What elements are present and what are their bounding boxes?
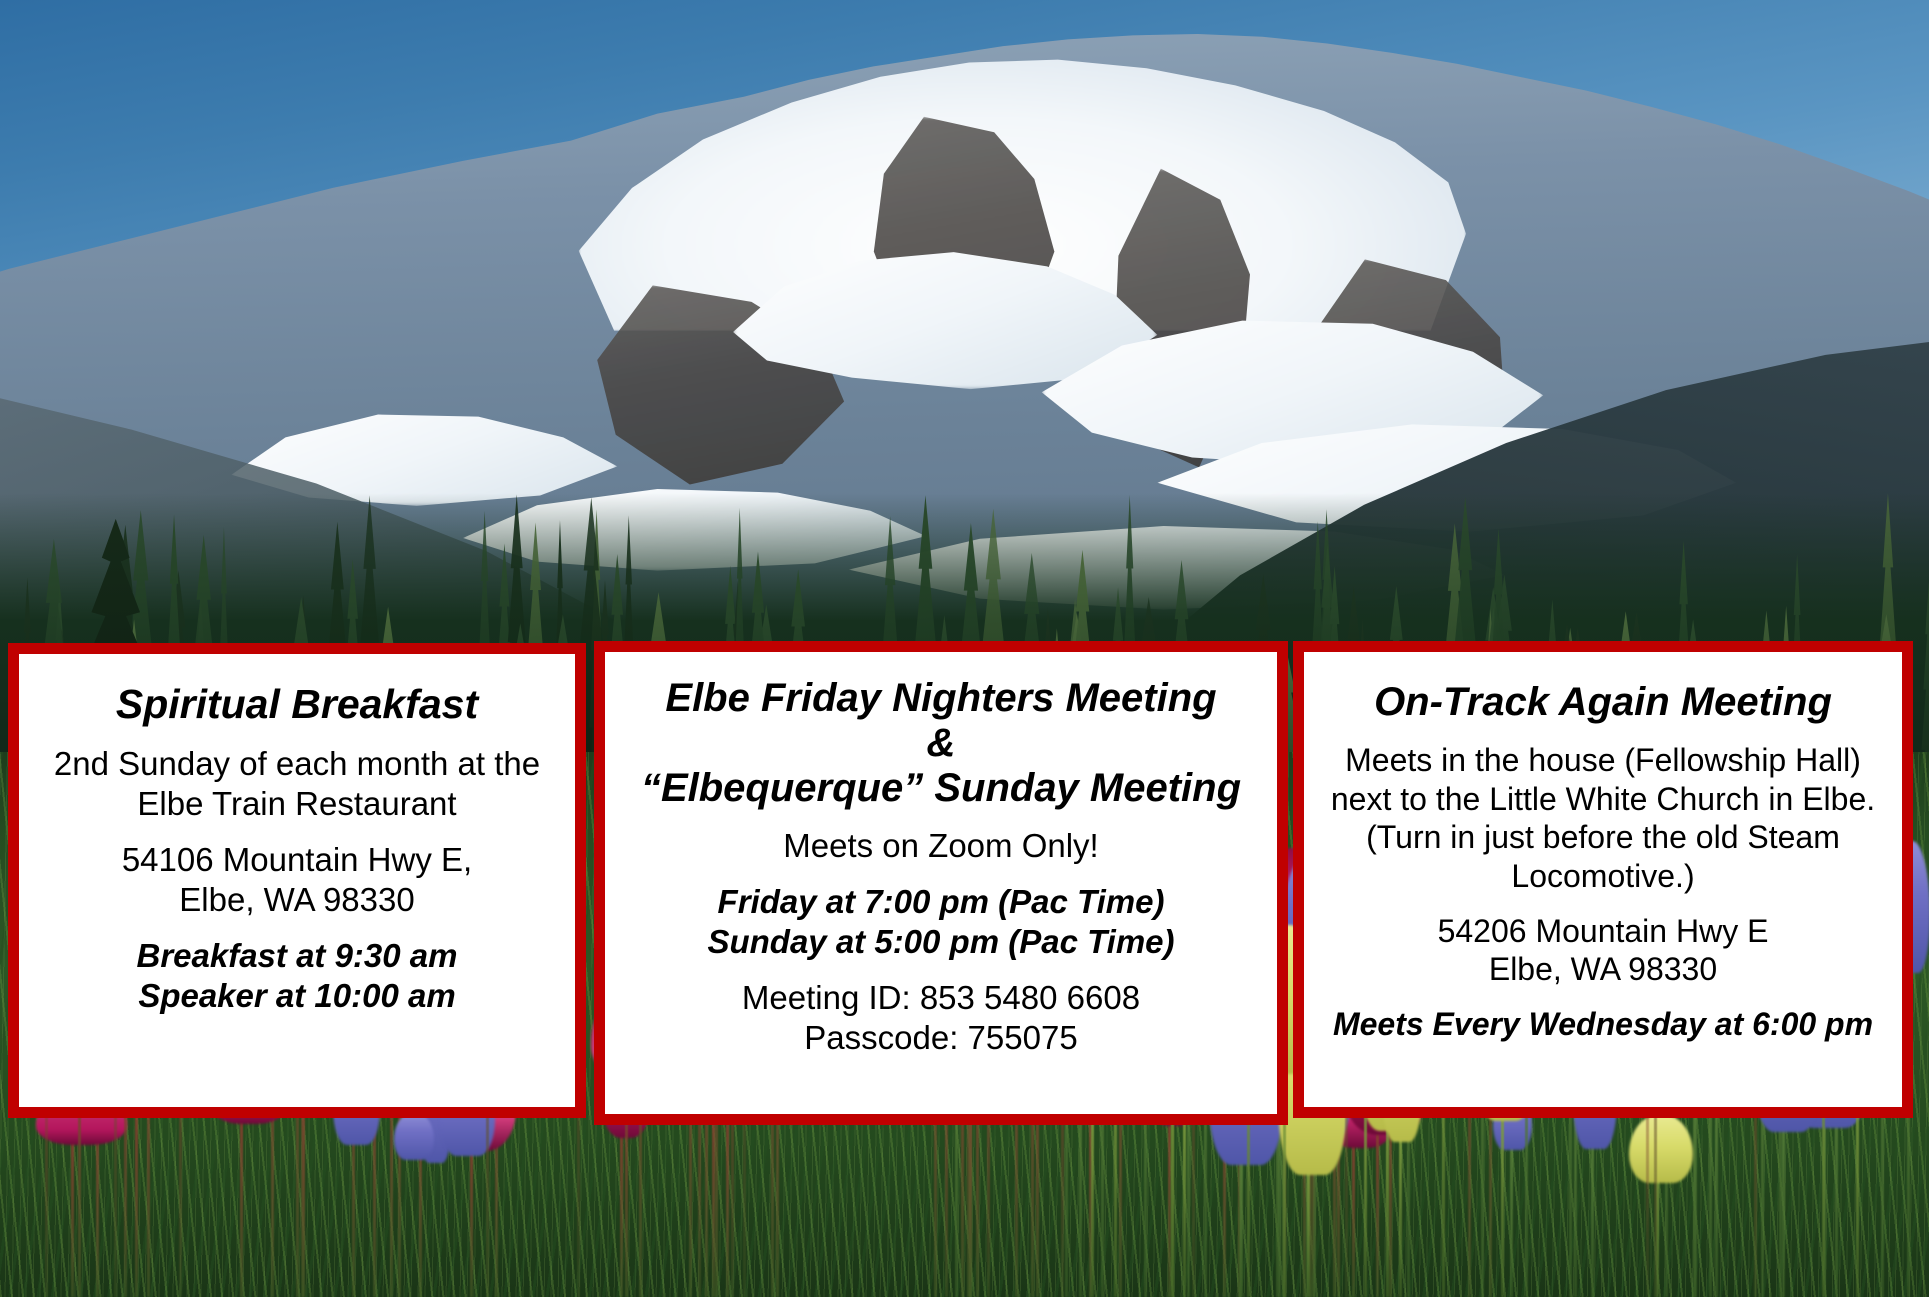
panel-spiritual-breakfast: Spiritual Breakfast 2nd Sunday of each m…: [8, 643, 586, 1118]
flower-stem: [1352, 1127, 1355, 1297]
panel-times: Breakfast at 9:30 am Speaker at 10:00 am: [35, 936, 559, 1016]
flower-stem: [1591, 1132, 1594, 1297]
panel-zoom-credentials: Meeting ID: 853 5480 6608 Passcode: 7550…: [621, 978, 1261, 1058]
panel-times: Meets Every Wednesday at 6:00 pm: [1320, 1005, 1886, 1044]
panel-title: On-Track Again Meeting: [1320, 680, 1886, 725]
flower-stem: [240, 1102, 243, 1297]
lupine-flower: [394, 1113, 434, 1160]
flower-stem: [1510, 1134, 1513, 1297]
panel-format: Meets on Zoom Only!: [621, 826, 1261, 866]
panel-times: Friday at 7:00 pm (Pac Time) Sunday at 5…: [621, 882, 1261, 962]
flower-stem: [1183, 1106, 1186, 1297]
flower-stem: [71, 1123, 74, 1297]
panel-title: Elbe Friday Nighters Meeting & “Elbequer…: [621, 676, 1261, 810]
flower-stem: [1501, 1104, 1504, 1297]
flower-stem: [1782, 1116, 1785, 1297]
flower-stem: [1376, 1113, 1379, 1297]
flower-stem: [1307, 1159, 1310, 1297]
panel-on-track-again: On-Track Again Meeting Meets in the hous…: [1293, 641, 1913, 1118]
flower-stem: [1364, 1095, 1367, 1297]
flower-stem: [1240, 1149, 1243, 1297]
panel-address: 54206 Mountain Hwy E Elbe, WA 98330: [1320, 912, 1886, 989]
panel-elbe-friday-nighters: Elbe Friday Nighters Meeting & “Elbequer…: [594, 641, 1288, 1125]
meeting-schedule-poster: Spiritual Breakfast 2nd Sunday of each m…: [0, 0, 1929, 1297]
flower-stem: [1386, 1114, 1389, 1297]
flower-stem: [1715, 1088, 1718, 1297]
flower-stem: [135, 1093, 138, 1297]
yellow-lousewort-flower: [1629, 1115, 1694, 1183]
panel-title: Spiritual Breakfast: [35, 682, 559, 728]
flower-stem: [712, 1095, 715, 1297]
panel-address: 54106 Mountain Hwy E, Elbe, WA 98330: [35, 840, 559, 920]
panel-schedule: 2nd Sunday of each month at the Elbe Tra…: [35, 744, 559, 824]
flower-stem: [1399, 1126, 1402, 1297]
flower-stem: [1091, 1106, 1094, 1297]
flower-stem: [620, 1117, 623, 1297]
panel-directions: Meets in the house (Fellowship Hall) nex…: [1320, 741, 1886, 896]
